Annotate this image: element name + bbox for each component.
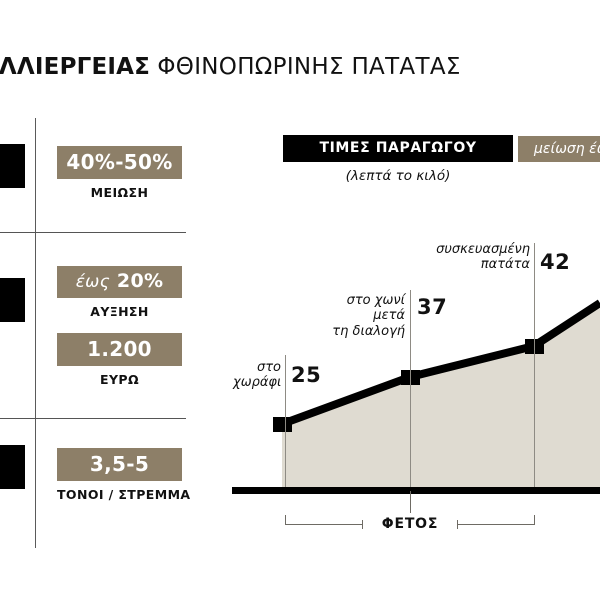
chart-svg xyxy=(0,0,600,600)
bracket-tick-right xyxy=(534,515,535,524)
bracket-line-left xyxy=(285,524,363,525)
price-line-chart: 25 37 42 στο χωράφι στο χωνί μετά τη δια… xyxy=(0,0,600,600)
bracket-tick-center xyxy=(410,491,411,513)
chart-value-label-2: 37 xyxy=(417,295,447,319)
bracket-label: ΦΕΤΟΣ xyxy=(360,515,460,533)
chart-value-label-3: 42 xyxy=(540,250,570,274)
chart-gridline-2 xyxy=(410,290,411,487)
chart-baseline-axis xyxy=(232,487,600,494)
chart-period-bracket: ΦΕΤΟΣ xyxy=(285,515,535,535)
chart-annotation-2: στο χωνί μετά τη διαλογή xyxy=(310,293,405,339)
chart-value-label-1: 25 xyxy=(291,363,321,387)
bracket-tick-left xyxy=(285,515,286,524)
chart-annotation-3: συσκευασμένη πατάτα xyxy=(420,242,530,273)
chart-gridline-3 xyxy=(534,243,535,487)
chart-gridline-1 xyxy=(285,355,286,487)
bracket-line-right xyxy=(457,524,535,525)
chart-point-marker-1 xyxy=(273,417,292,432)
chart-annotation-1: στο χωράφι xyxy=(233,360,281,391)
